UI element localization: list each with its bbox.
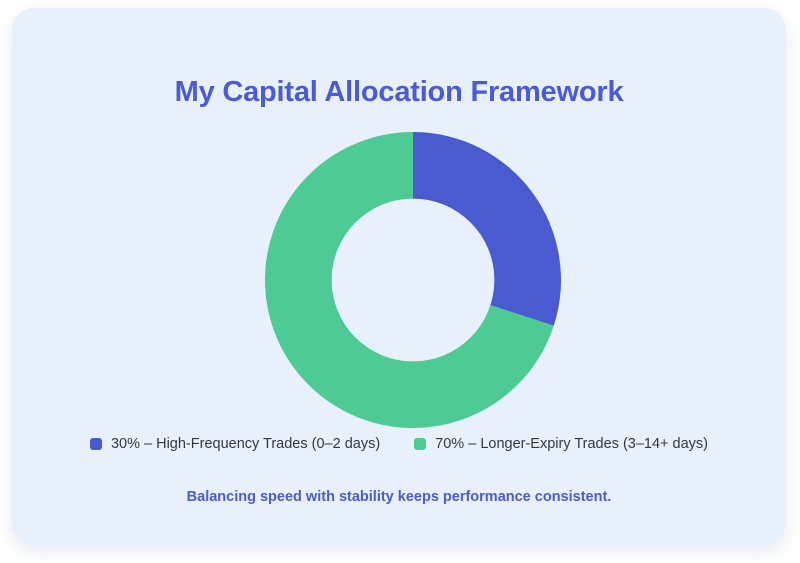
chart-card: My Capital Allocation Framework 30% – Hi… xyxy=(12,8,786,545)
chart-legend: 30% – High-Frequency Trades (0–2 days) 7… xyxy=(12,436,786,452)
legend-swatch-icon xyxy=(414,438,426,450)
donut-hole xyxy=(332,199,495,362)
legend-item-high-frequency[interactable]: 30% – High-Frequency Trades (0–2 days) xyxy=(90,436,380,452)
chart-footnote: Balancing speed with stability keeps per… xyxy=(12,489,786,505)
legend-swatch-icon xyxy=(90,438,102,450)
page-title: My Capital Allocation Framework xyxy=(12,76,786,109)
legend-item-label: 30% – High-Frequency Trades (0–2 days) xyxy=(111,436,380,452)
legend-item-longer-expiry[interactable]: 70% – Longer-Expiry Trades (3–14+ days) xyxy=(414,436,708,452)
donut-chart-svg xyxy=(265,132,561,428)
donut-chart xyxy=(265,132,561,428)
legend-item-label: 70% – Longer-Expiry Trades (3–14+ days) xyxy=(435,436,708,452)
